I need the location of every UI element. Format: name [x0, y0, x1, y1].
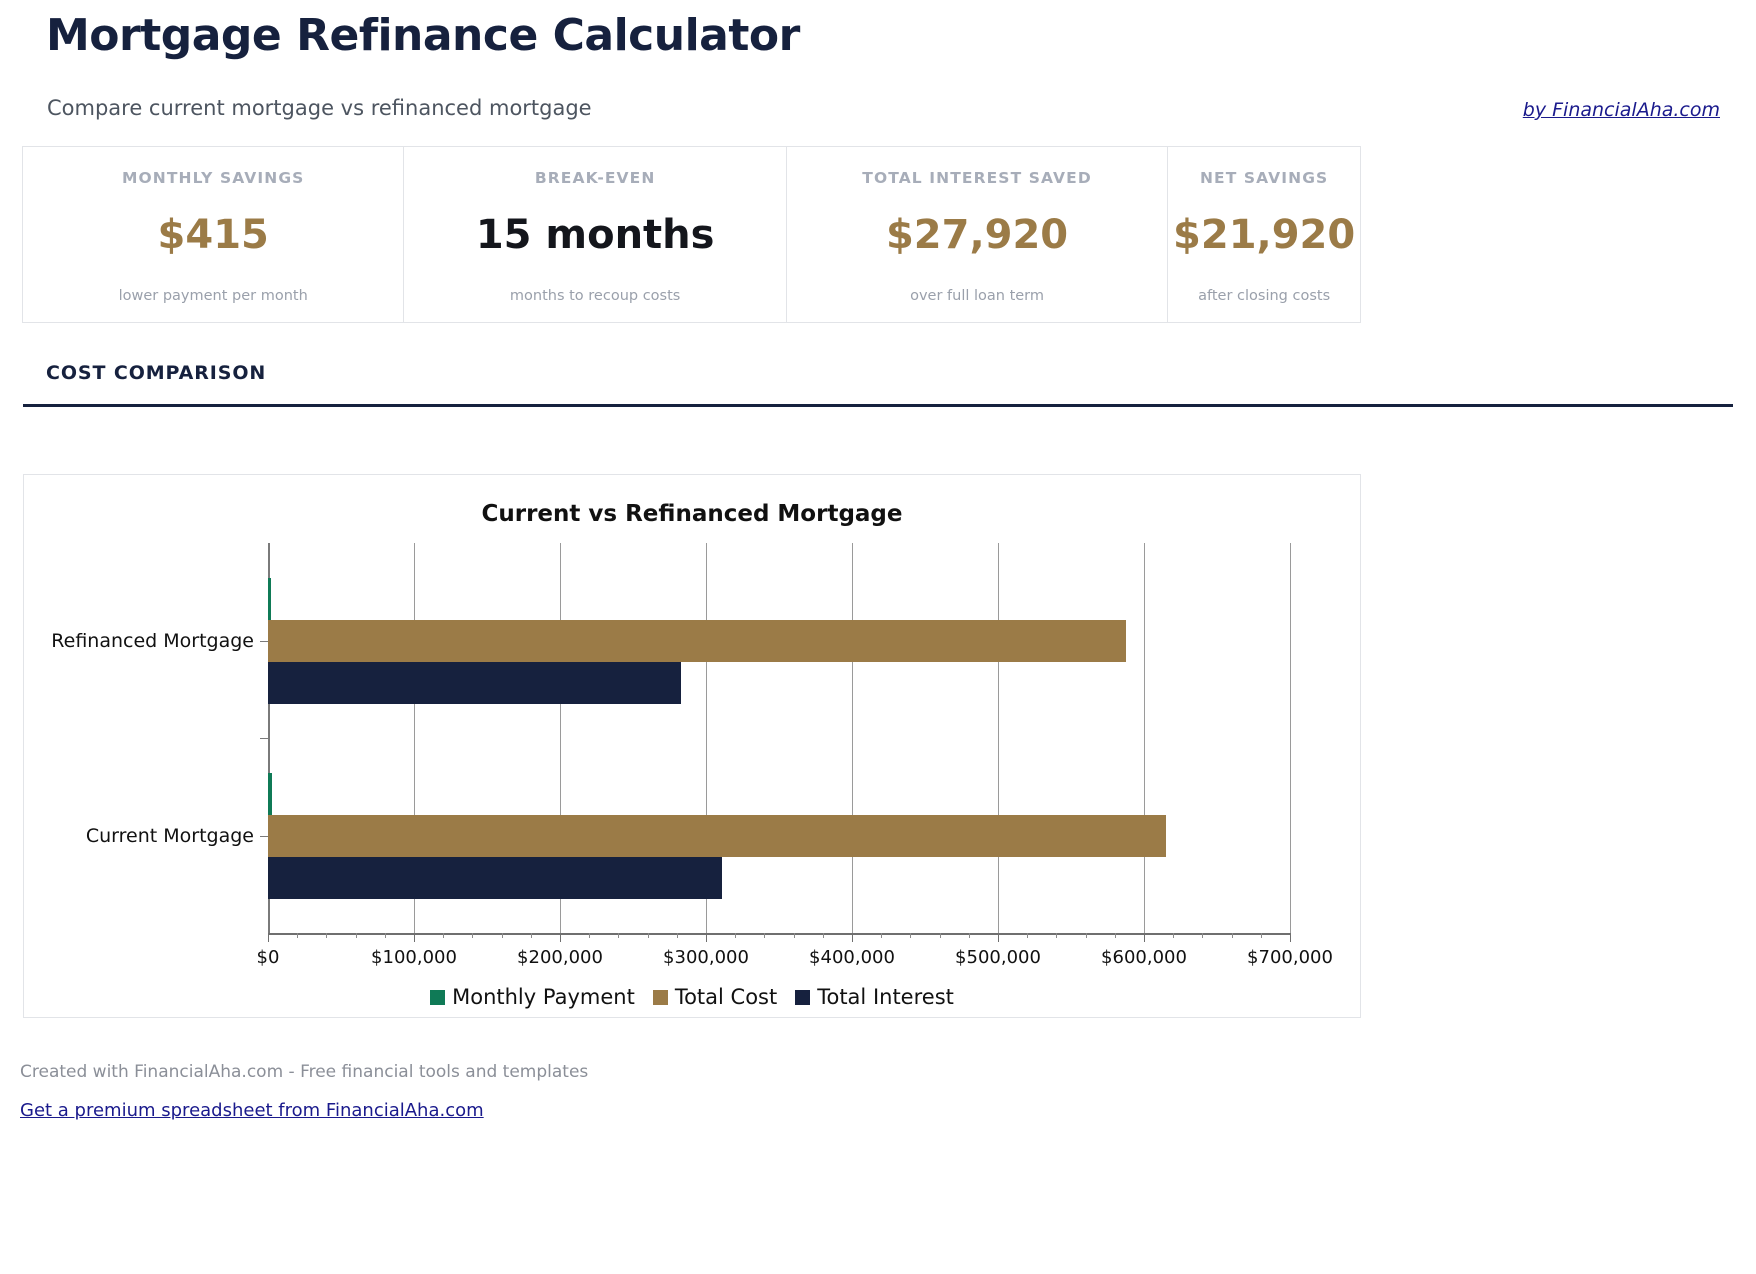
kpi-value: $415 [158, 212, 269, 258]
kpi-strip: MONTHLY SAVINGS $415 lower payment per m… [22, 146, 1361, 323]
x-axis-minor-tick [589, 933, 590, 938]
x-axis-minor-tick [385, 933, 386, 938]
x-axis-minor-tick [823, 933, 824, 938]
x-axis-tick-label: $100,000 [371, 947, 457, 968]
legend-label: Total Interest [817, 985, 954, 1009]
x-axis-minor-tick [502, 933, 503, 938]
bar-total-cost [268, 815, 1166, 857]
legend-swatch-icon [430, 990, 445, 1005]
x-axis-tick [268, 933, 269, 942]
x-axis-minor-tick [1261, 933, 1262, 938]
x-axis-minor-tick [472, 933, 473, 938]
kpi-label: BREAK-EVEN [535, 169, 656, 187]
x-axis-minor-tick [940, 933, 941, 938]
kpi-card-total-interest-saved: TOTAL INTEREST SAVED $27,920 over full l… [787, 147, 1168, 322]
x-axis-tick [998, 933, 999, 942]
x-axis-minor-tick [1115, 933, 1116, 938]
kpi-sublabel: lower payment per month [119, 288, 308, 304]
x-axis-tick [706, 933, 707, 942]
chart-panel: Current vs Refinanced Mortgage $0$100,00… [23, 474, 1361, 1018]
x-axis-tick-label: $500,000 [955, 947, 1041, 968]
x-axis-tick [1144, 933, 1145, 942]
kpi-value: 15 months [476, 212, 715, 258]
footer-note: Created with FinancialAha.com - Free fin… [20, 1062, 588, 1082]
legend-label: Monthly Payment [452, 985, 635, 1009]
x-axis-minor-tick [1086, 933, 1087, 938]
x-axis-minor-tick [531, 933, 532, 938]
x-axis-minor-tick [735, 933, 736, 938]
x-axis-minor-tick [794, 933, 795, 938]
y-axis-category-label: Current Mortgage [86, 825, 254, 847]
kpi-card-net-savings: NET SAVINGS $21,920 after closing costs [1168, 147, 1360, 322]
x-axis-tick [852, 933, 853, 942]
x-axis-minor-tick [881, 933, 882, 938]
x-axis-minor-tick [1027, 933, 1028, 938]
x-axis-tick-label: $200,000 [517, 947, 603, 968]
x-axis-minor-tick [764, 933, 765, 938]
section-divider [23, 404, 1733, 407]
legend-swatch-icon [653, 990, 668, 1005]
legend-label: Total Cost [675, 985, 777, 1009]
x-axis-minor-tick [1202, 933, 1203, 938]
x-axis-minor-tick [326, 933, 327, 938]
kpi-sublabel: after closing costs [1198, 288, 1330, 304]
bar-total-interest [268, 662, 681, 704]
y-axis-category-label: Refinanced Mortgage [51, 630, 254, 652]
kpi-sublabel: over full loan term [910, 288, 1044, 304]
x-axis-tick [414, 933, 415, 942]
x-axis-tick-label: $400,000 [809, 947, 895, 968]
section-heading-cost-comparison: COST COMPARISON [46, 362, 266, 384]
legend-item[interactable]: Total Cost [653, 985, 777, 1009]
x-axis-minor-tick [1173, 933, 1174, 938]
x-axis-minor-tick [1056, 933, 1057, 938]
x-axis-minor-tick [356, 933, 357, 938]
x-axis-minor-tick [648, 933, 649, 938]
gridline-vertical [1290, 543, 1291, 933]
kpi-card-break-even: BREAK-EVEN 15 months months to recoup co… [404, 147, 786, 322]
bar-total-cost [268, 620, 1126, 662]
footer-premium-link[interactable]: Get a premium spreadsheet from Financial… [20, 1100, 484, 1121]
x-axis-tick-label: $700,000 [1247, 947, 1333, 968]
legend-item[interactable]: Monthly Payment [430, 985, 635, 1009]
x-axis-minor-tick [677, 933, 678, 938]
x-axis-tick [1290, 933, 1291, 942]
kpi-value: $27,920 [886, 212, 1068, 258]
x-axis-minor-tick [969, 933, 970, 938]
x-axis-tick-label: $300,000 [663, 947, 749, 968]
y-axis-tick [260, 641, 268, 642]
gridline-vertical [998, 543, 999, 933]
gridline-vertical [1144, 543, 1145, 933]
kpi-label: MONTHLY SAVINGS [122, 169, 304, 187]
gridline-vertical [852, 543, 853, 933]
page-subtitle: Compare current mortgage vs refinanced m… [47, 96, 592, 120]
chart-title: Current vs Refinanced Mortgage [24, 501, 1360, 527]
kpi-card-monthly-savings: MONTHLY SAVINGS $415 lower payment per m… [23, 147, 404, 322]
x-axis-minor-tick [297, 933, 298, 938]
page-title: Mortgage Refinance Calculator [46, 10, 800, 61]
x-axis-tick-label: $600,000 [1101, 947, 1187, 968]
y-axis-tick [260, 738, 268, 739]
x-axis-tick-label: $0 [257, 947, 280, 968]
y-axis-tick [260, 836, 268, 837]
x-axis-minor-tick [1232, 933, 1233, 938]
bar-monthly-payment [268, 773, 272, 815]
chart-plot-area: $0$100,000$200,000$300,000$400,000$500,0… [268, 543, 1290, 933]
kpi-value: $21,920 [1173, 212, 1355, 258]
x-axis-minor-tick [910, 933, 911, 938]
kpi-label: TOTAL INTEREST SAVED [862, 169, 1092, 187]
chart-legend: Monthly PaymentTotal CostTotal Interest [24, 985, 1360, 1009]
x-axis-minor-tick [443, 933, 444, 938]
x-axis-line [268, 933, 1290, 935]
mortgage-refinance-calculator-page: Mortgage Refinance Calculator Compare cu… [0, 0, 1756, 1274]
x-axis-tick [560, 933, 561, 942]
x-axis-minor-tick [618, 933, 619, 938]
kpi-label: NET SAVINGS [1200, 169, 1328, 187]
legend-item[interactable]: Total Interest [795, 985, 954, 1009]
bar-monthly-payment [268, 578, 271, 620]
byline-link[interactable]: by FinancialAha.com [1523, 99, 1720, 121]
legend-swatch-icon [795, 990, 810, 1005]
kpi-sublabel: months to recoup costs [510, 288, 680, 304]
bar-total-interest [268, 857, 722, 899]
